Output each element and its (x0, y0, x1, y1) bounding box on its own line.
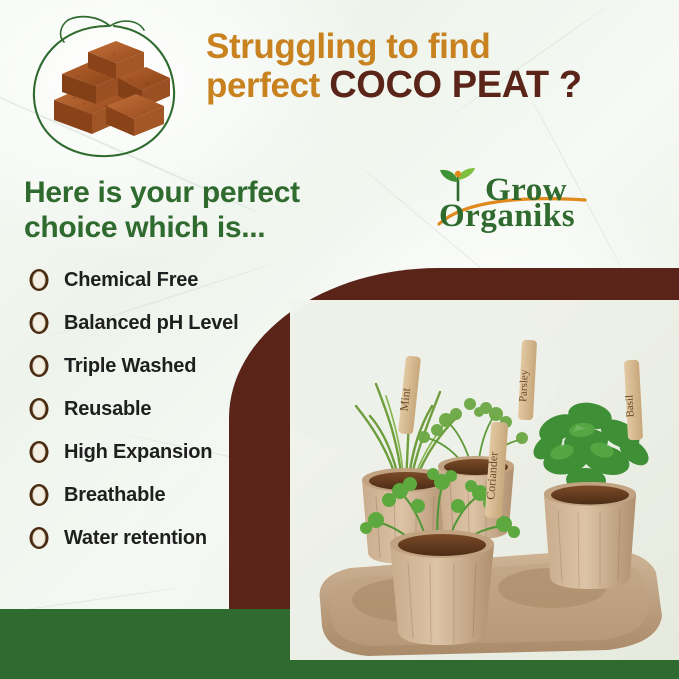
subheading: Here is your perfect choice which is... (24, 175, 384, 246)
svg-text:Basil: Basil (623, 395, 636, 418)
subheading-line-1: Here is your perfect (24, 175, 384, 210)
title-line-2: perfect COCO PEAT ? (206, 65, 676, 105)
coconut-icon (26, 267, 52, 293)
list-item-label: Water retention (64, 527, 207, 550)
coconut-icon (26, 396, 52, 422)
list-item-label: High Expansion (64, 441, 212, 464)
feature-list: Chemical Free Balanced pH Level Trip (26, 262, 366, 563)
list-item: Balanced pH Level (26, 305, 366, 341)
svg-text:Mint: Mint (397, 387, 413, 412)
brand-logo: Grow Organiks (425, 170, 625, 240)
svg-text:Parsley: Parsley (517, 369, 531, 402)
page-title: Struggling to find perfect COCO PEAT ? (206, 28, 676, 105)
list-item: Chemical Free (26, 262, 366, 298)
coconut-icon (26, 482, 52, 508)
coconut-icon (26, 525, 52, 551)
header-section: Struggling to find perfect COCO PEAT ? (0, 0, 679, 160)
title-line-2-part1: perfect (206, 66, 320, 105)
list-item-label: Reusable (64, 398, 151, 421)
list-item: Triple Washed (26, 348, 366, 384)
list-item-label: Chemical Free (64, 269, 198, 292)
list-item-label: Triple Washed (64, 355, 196, 378)
brand-name-line2: Organiks (439, 198, 575, 235)
list-item-label: Breathable (64, 484, 165, 507)
list-item: High Expansion (26, 434, 366, 470)
subheading-line-2: choice which is... (24, 210, 384, 245)
ad-creative-canvas: Mint (0, 0, 679, 679)
list-item: Reusable (26, 391, 366, 427)
title-line-2-part2: COCO PEAT ? (329, 64, 581, 106)
coconut-icon (26, 439, 52, 465)
title-line-1: Struggling to find (206, 28, 676, 65)
coco-peat-bricks-illustration (18, 14, 186, 154)
list-item: Water retention (26, 520, 366, 556)
list-item-label: Balanced pH Level (64, 312, 238, 335)
coconut-icon (26, 353, 52, 379)
coconut-icon (26, 310, 52, 336)
list-item: Breathable (26, 477, 366, 513)
